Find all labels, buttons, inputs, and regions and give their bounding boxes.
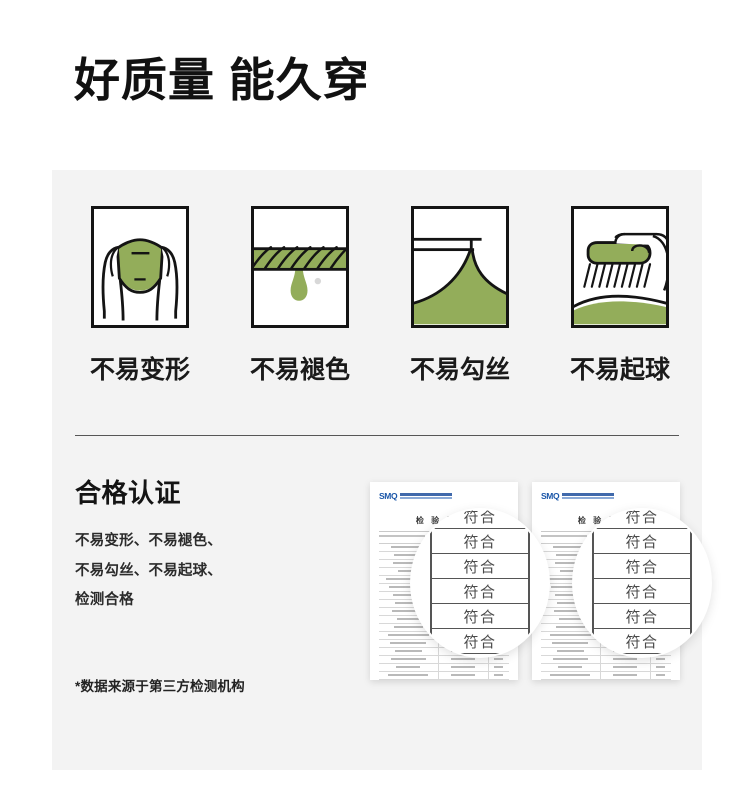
- feature-item-anti-deformation: 不易变形: [74, 206, 206, 386]
- result-value: 符合: [625, 510, 658, 527]
- result-value: 符合: [463, 556, 496, 577]
- certification-description: 不易变形、不易褪色、 不易勾丝、不易起球、 检测合格: [75, 527, 335, 616]
- table-row: [541, 656, 671, 664]
- logo-line-en: [400, 497, 452, 499]
- content-panel: 不易变形: [52, 170, 702, 770]
- feature-list: 不易变形: [74, 206, 686, 386]
- feature-label: 不易起球: [570, 350, 670, 386]
- table-row: [541, 664, 671, 672]
- table-row: [379, 672, 509, 680]
- lens-result-row: 符合: [430, 529, 530, 554]
- feature-item-anti-pilling: 不易起球: [554, 206, 686, 386]
- result-value: 符合: [625, 606, 658, 627]
- table-row: [379, 680, 509, 681]
- lens-content: 符合 符合 符合 符合 符合 符合 符合: [430, 510, 530, 656]
- magnifier-lens: 符合 符合 符合 符合 符合 符合 符合: [412, 510, 548, 656]
- result-value: 符合: [463, 631, 496, 652]
- lens-result-row: 符合: [592, 654, 692, 656]
- logo-line-cn: [562, 493, 614, 496]
- certification-description-line: 不易变形、不易褪色、: [75, 527, 335, 557]
- feature-item-anti-snag: 不易勾丝: [394, 206, 526, 386]
- lens-result-row: 符合: [430, 604, 530, 629]
- result-value: 符合: [625, 656, 658, 657]
- lens-result-row: 符合: [592, 554, 692, 579]
- feature-label: 不易变形: [90, 350, 190, 386]
- smq-logo-mark: SMQ: [541, 492, 559, 501]
- lens-result-row: 符合: [430, 579, 530, 604]
- result-value: 符合: [463, 531, 496, 552]
- dripping-dye-fabric-icon: [251, 206, 349, 328]
- document-meta-left: [379, 535, 425, 537]
- result-value: 符合: [463, 606, 496, 627]
- lens-result-row: 符合: [430, 510, 530, 529]
- magnifier-lens: 符合 符合 符合 符合 符合 符合 符合: [574, 510, 710, 656]
- result-value: 符合: [625, 631, 658, 652]
- certification-heading: 合格认证: [75, 473, 335, 510]
- logo-line-en: [562, 497, 614, 499]
- feature-label: 不易褪色: [250, 350, 350, 386]
- result-value: 符合: [463, 656, 496, 657]
- table-row: [379, 656, 509, 664]
- lens-result-row: 符合: [592, 529, 692, 554]
- smq-logo: SMQ: [541, 492, 671, 501]
- certification-description-line: 不易勾丝、不易起球、: [75, 557, 335, 587]
- smq-logo-mark: SMQ: [379, 492, 397, 501]
- logo-line-cn: [400, 493, 452, 496]
- certification-block: 合格认证 不易变形、不易褪色、 不易勾丝、不易起球、 检测合格: [75, 473, 335, 616]
- certification-description-line: 检测合格: [75, 586, 335, 616]
- lens-result-row: 符合: [592, 579, 692, 604]
- table-row: [541, 672, 671, 680]
- lens-result-row: 符合: [430, 554, 530, 579]
- table-row: [541, 680, 671, 681]
- result-value: 符合: [625, 581, 658, 602]
- table-row: [379, 664, 509, 672]
- snagged-fabric-icon: [411, 206, 509, 328]
- result-value: 符合: [463, 581, 496, 602]
- lens-result-row: 符合: [592, 510, 692, 529]
- certificate-gallery: SMQ 检 验 报 告: [360, 470, 690, 700]
- lens-result-row: 符合: [430, 654, 530, 656]
- result-value: 符合: [625, 531, 658, 552]
- smq-logo-wordmark: [562, 493, 614, 499]
- page-title: 好质量 能久穿: [74, 54, 370, 107]
- certification-footnote: *数据来源于第三方检测机构: [75, 675, 245, 695]
- section-divider: [75, 435, 679, 436]
- feature-item-anti-fading: 不易褪色: [234, 206, 366, 386]
- result-value: 符合: [625, 556, 658, 577]
- lens-result-row: 符合: [592, 629, 692, 654]
- lens-result-row: 符合: [592, 604, 692, 629]
- brush-on-fabric-icon: [571, 206, 669, 328]
- result-value: 符合: [463, 510, 496, 527]
- lens-result-row: 符合: [430, 629, 530, 654]
- smq-logo-wordmark: [400, 493, 452, 499]
- stretched-garment-icon: [91, 206, 189, 328]
- document-meta-left: [541, 535, 587, 537]
- smq-logo: SMQ: [379, 492, 509, 501]
- lens-content: 符合 符合 符合 符合 符合 符合 符合: [592, 510, 692, 656]
- feature-label: 不易勾丝: [410, 350, 510, 386]
